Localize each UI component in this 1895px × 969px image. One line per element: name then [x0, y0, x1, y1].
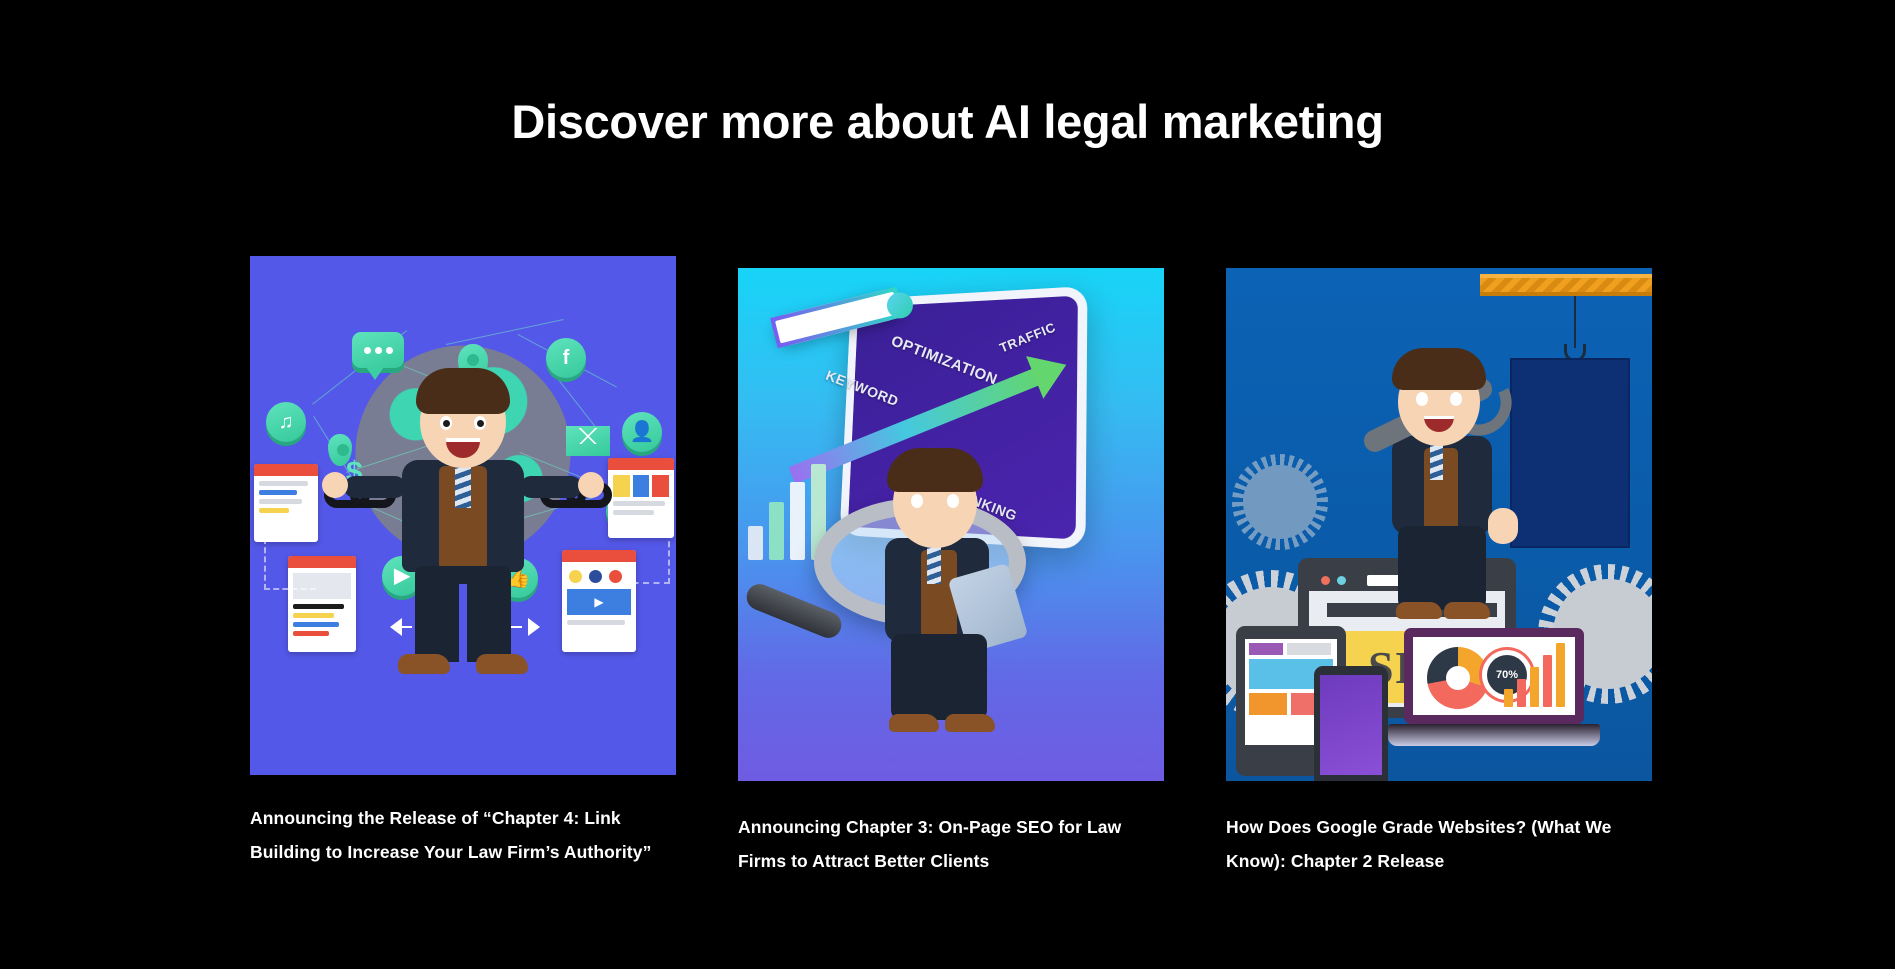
dashed-guide	[622, 532, 670, 584]
network-line	[446, 319, 564, 345]
hair	[1392, 348, 1486, 390]
hanging-panel	[1510, 358, 1630, 548]
discover-more-section: Discover more about AI legal marketing	[0, 0, 1895, 969]
left-arm	[344, 476, 406, 498]
facebook-icon: f	[546, 338, 586, 378]
browser-content	[608, 470, 674, 524]
right-eye	[947, 494, 959, 508]
hair	[887, 448, 983, 492]
laptop-icon: 70%	[1394, 628, 1594, 746]
music-note-icon: ♫	[266, 402, 306, 442]
businessman-character	[1376, 358, 1526, 638]
window-dot	[1337, 576, 1346, 585]
smile	[1424, 416, 1454, 432]
necktie	[1430, 442, 1443, 480]
link-building-illustration: f ♫ 👤 ⚑ ▲ ▶ 👍 $	[250, 256, 676, 775]
browser-window	[608, 458, 674, 538]
article-card-grid: f ♫ 👤 ⚑ ▲ ▶ 👍 $	[250, 256, 1652, 816]
right-eye	[1450, 392, 1462, 406]
crane-cable	[1574, 296, 1576, 348]
article-thumbnail[interactable]: OPTIMIZATION KEYWORD TRAFFIC RANKING	[738, 268, 1164, 781]
legs	[415, 566, 511, 662]
crane-icon	[1480, 274, 1652, 296]
businessman-character	[873, 458, 1023, 758]
necktie	[927, 544, 941, 584]
left-eye	[440, 416, 452, 430]
hair	[416, 368, 510, 414]
businessman-character	[388, 376, 538, 676]
article-thumbnail[interactable]: f ♫ 👤 ⚑ ▲ ▶ 👍 $	[250, 256, 676, 775]
right-eye	[474, 416, 486, 430]
article-card[interactable]: SEO	[1226, 256, 1652, 878]
left-eye	[911, 494, 923, 508]
right-shoe	[945, 714, 995, 732]
right-arm	[520, 476, 582, 498]
bar-chart-icon	[1504, 643, 1565, 707]
legs	[1398, 526, 1486, 610]
left-shoe	[398, 654, 450, 674]
left-eye	[1416, 392, 1428, 406]
article-card-title[interactable]: Announcing Chapter 3: On-Page SEO for La…	[738, 810, 1164, 878]
right-shoe	[1444, 602, 1490, 619]
google-grading-illustration: SEO	[1226, 268, 1652, 781]
gear-icon	[1232, 454, 1328, 550]
donut-chart-icon	[1427, 647, 1489, 709]
browser-content	[254, 476, 318, 522]
article-card-title[interactable]: How Does Google Grade Websites? (What We…	[1226, 810, 1652, 878]
window-dot	[1321, 576, 1330, 585]
browser-titlebar	[608, 458, 674, 470]
user-profile-icon: 👤	[622, 412, 662, 452]
article-card[interactable]: OPTIMIZATION KEYWORD TRAFFIC RANKING	[738, 256, 1164, 878]
left-hand	[322, 472, 348, 498]
left-shoe	[1396, 602, 1442, 619]
page-title: Discover more about AI legal marketing	[0, 95, 1895, 149]
laptop-screen: 70%	[1404, 628, 1584, 724]
article-card-title[interactable]: Announcing the Release of “Chapter 4: Li…	[250, 801, 676, 869]
legs	[891, 634, 987, 720]
browser-titlebar	[254, 464, 318, 476]
right-shoe	[476, 654, 528, 674]
phone-screen	[1320, 675, 1382, 775]
browser-window	[254, 464, 318, 542]
dashed-guide	[264, 538, 316, 590]
article-thumbnail[interactable]: SEO	[1226, 268, 1652, 781]
smile	[446, 438, 480, 458]
on-page-seo-illustration: OPTIMIZATION KEYWORD TRAFFIC RANKING	[738, 268, 1164, 781]
bar-chart-icon	[748, 464, 826, 560]
envelope-icon	[566, 426, 610, 456]
article-card[interactable]: f ♫ 👤 ⚑ ▲ ▶ 👍 $	[250, 256, 676, 869]
necktie	[455, 464, 471, 508]
right-hand	[578, 472, 604, 498]
thumbs-up-icon	[1488, 508, 1518, 544]
chat-bubble-icon	[352, 332, 404, 368]
phone-icon	[1314, 666, 1388, 781]
left-shoe	[889, 714, 939, 732]
laptop-keyboard	[1388, 724, 1600, 746]
